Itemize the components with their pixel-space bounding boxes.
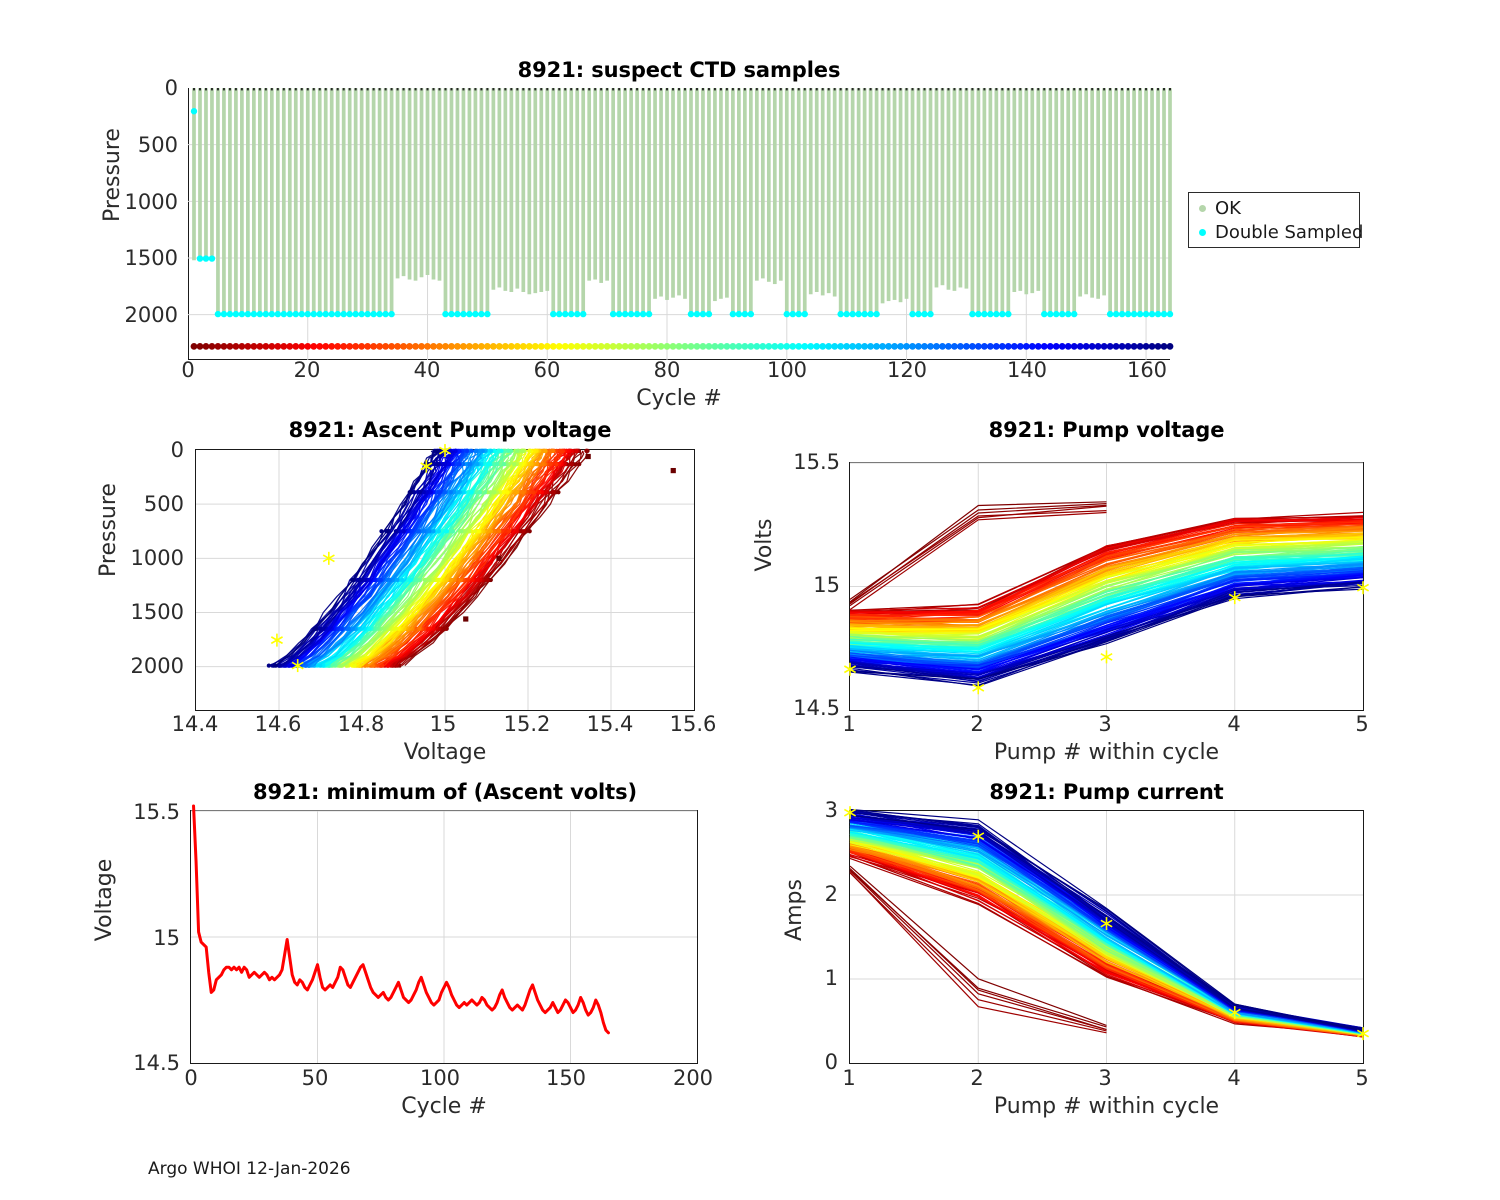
pump-voltage-xtick-5: 5 bbox=[1344, 712, 1380, 736]
suspect-xtick-40: 40 bbox=[403, 358, 451, 382]
min-ascent-xtick-100: 100 bbox=[410, 1066, 470, 1090]
min-ascent-plot-area bbox=[191, 811, 697, 1063]
suspect-ylabel: Pressure bbox=[100, 75, 125, 275]
pump-current-xtick-5: 5 bbox=[1344, 1066, 1380, 1090]
suspect-ytick-2000: 2000 bbox=[110, 303, 178, 327]
suspect-xtick-80: 80 bbox=[643, 358, 691, 382]
ascent-xlabel: Voltage bbox=[195, 740, 695, 765]
suspect-xtick-60: 60 bbox=[523, 358, 571, 382]
ascent-xtick-146: 14.6 bbox=[246, 712, 310, 736]
panel-pump-voltage-title: 8921: Pump voltage bbox=[849, 418, 1364, 442]
suspect-plot-area bbox=[188, 88, 1170, 360]
pump-current-xtick-1: 1 bbox=[831, 1066, 867, 1090]
pump-current-xtick-3: 3 bbox=[1087, 1066, 1123, 1090]
panel-min-ascent-title: 8921: minimum of (Ascent volts) bbox=[190, 780, 700, 804]
panel-pump-current-title: 8921: Pump current bbox=[849, 780, 1364, 804]
min-ascent-ylabel: Voltage bbox=[92, 810, 117, 990]
suspect-xtick-120: 120 bbox=[877, 358, 937, 382]
min-ascent-xtick-150: 150 bbox=[536, 1066, 596, 1090]
ascent-xtick-148: 14.8 bbox=[329, 712, 393, 736]
suspect-xtick-100: 100 bbox=[757, 358, 817, 382]
pump-current-ytick-3: 3 bbox=[790, 798, 838, 822]
ascent-xtick-144: 14.4 bbox=[163, 712, 227, 736]
suspect-ytick-0: 0 bbox=[122, 76, 178, 100]
legend-marker-double-sampled bbox=[1199, 229, 1206, 236]
pump-current-xtick-4: 4 bbox=[1216, 1066, 1252, 1090]
figure-canvas: 8921: suspect CTD samples 0 500 1000 150… bbox=[0, 0, 1500, 1200]
suspect-xtick-160: 160 bbox=[1117, 358, 1177, 382]
min-ascent-xtick-200: 200 bbox=[663, 1066, 723, 1090]
pump-voltage-plot-area bbox=[850, 463, 1363, 710]
min-ascent-xtick-0: 0 bbox=[170, 1066, 212, 1090]
ascent-ytick-500: 500 bbox=[116, 492, 184, 516]
panel-suspect-title: 8921: suspect CTD samples bbox=[188, 58, 1170, 82]
suspect-legend: OK Double Sampled bbox=[1188, 192, 1360, 248]
pump-current-ylabel: Amps bbox=[782, 820, 807, 1000]
ascent-xtick-152: 15.2 bbox=[495, 712, 559, 736]
min-ascent-xlabel: Cycle # bbox=[190, 1094, 698, 1119]
suspect-xtick-20: 20 bbox=[283, 358, 331, 382]
legend-row-ok: OK bbox=[1189, 198, 1241, 219]
ascent-ytick-2000: 2000 bbox=[104, 654, 184, 678]
legend-label-ok: OK bbox=[1215, 198, 1241, 219]
pump-voltage-ytick-145: 14.5 bbox=[760, 696, 840, 720]
ascent-ylabel: Pressure bbox=[96, 430, 121, 630]
ascent-xtick-156: 15.6 bbox=[661, 712, 725, 736]
figure-footer: Argo WHOI 12-Jan-2026 bbox=[148, 1159, 351, 1179]
ascent-xtick-154: 15.4 bbox=[578, 712, 642, 736]
pump-voltage-ylabel: Volts bbox=[752, 465, 777, 625]
pump-voltage-xtick-2: 2 bbox=[959, 712, 995, 736]
pump-current-plot-area bbox=[850, 811, 1363, 1063]
pump-voltage-xtick-1: 1 bbox=[831, 712, 867, 736]
pump-current-xlabel: Pump # within cycle bbox=[849, 1094, 1364, 1119]
suspect-xtick-140: 140 bbox=[997, 358, 1057, 382]
min-ascent-ytick-145: 14.5 bbox=[100, 1051, 180, 1075]
pump-voltage-xtick-3: 3 bbox=[1087, 712, 1123, 736]
suspect-xlabel: Cycle # bbox=[188, 386, 1170, 411]
pump-voltage-xlabel: Pump # within cycle bbox=[849, 740, 1364, 765]
pump-current-xtick-2: 2 bbox=[959, 1066, 995, 1090]
ascent-plot-area bbox=[196, 450, 694, 710]
legend-row-double-sampled: Double Sampled bbox=[1189, 222, 1363, 243]
panel-ascent-title: 8921: Ascent Pump voltage bbox=[195, 418, 705, 442]
ascent-ytick-0: 0 bbox=[128, 438, 184, 462]
suspect-xtick-0: 0 bbox=[164, 358, 212, 382]
min-ascent-xtick-50: 50 bbox=[291, 1066, 339, 1090]
legend-marker-ok bbox=[1199, 205, 1206, 212]
ascent-xtick-15: 15 bbox=[415, 712, 471, 736]
suspect-ytick-500: 500 bbox=[122, 133, 178, 157]
pump-voltage-xtick-4: 4 bbox=[1216, 712, 1252, 736]
legend-label-double-sampled: Double Sampled bbox=[1215, 222, 1363, 243]
